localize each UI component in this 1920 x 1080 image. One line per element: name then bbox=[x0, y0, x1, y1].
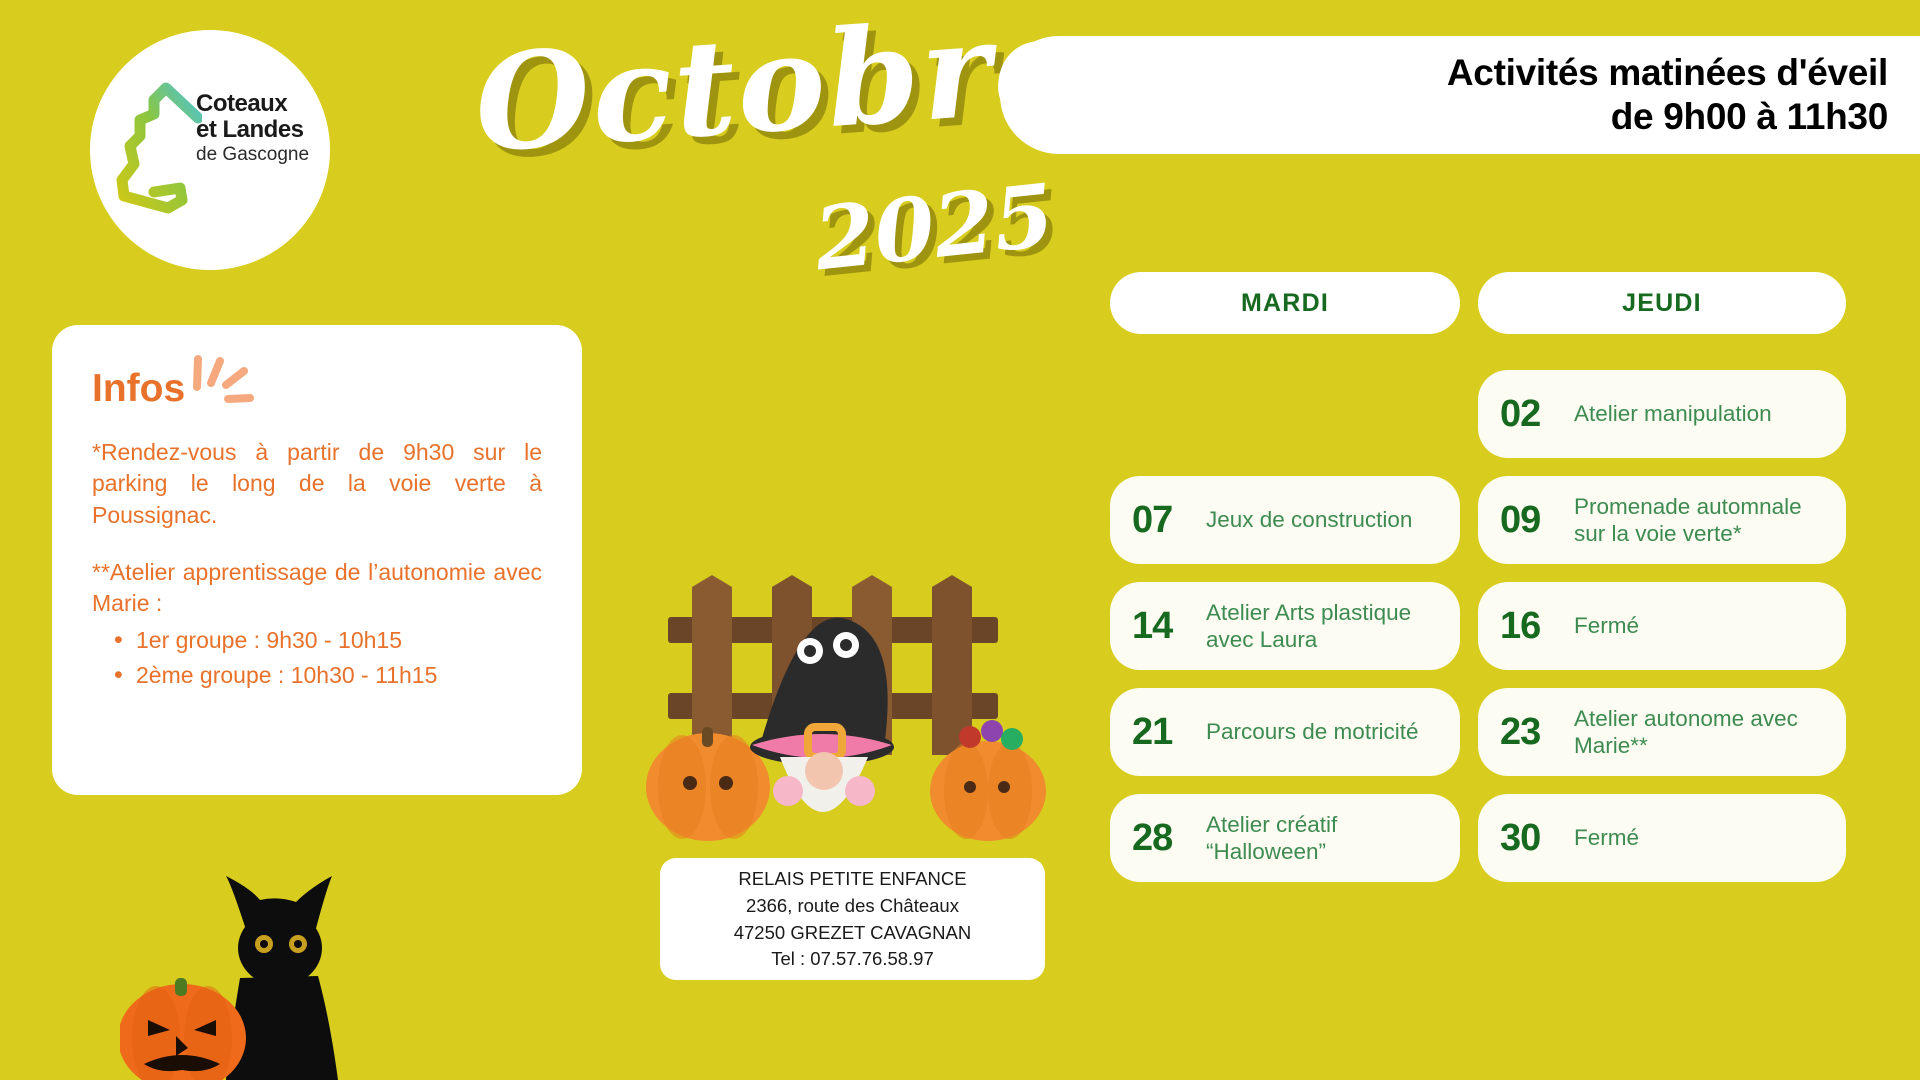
event-label: Atelier Arts plastique avec Laura bbox=[1206, 599, 1444, 654]
event-card[interactable]: 02 Atelier manipulation bbox=[1478, 370, 1846, 458]
infos-paragraph-2: **Atelier apprentissage de l’autonomie a… bbox=[92, 557, 542, 620]
month-title: Octobre bbox=[470, 0, 1084, 183]
infos-bullet-item: 2ème groupe : 10h30 - 11h15 bbox=[92, 658, 542, 693]
event-label: Fermé bbox=[1574, 824, 1639, 851]
event-card[interactable]: 21 Parcours de motricité bbox=[1110, 688, 1460, 776]
logo-line-1: Coteaux bbox=[196, 92, 309, 116]
event-label: Promenade automnale sur la voie verte* bbox=[1574, 493, 1830, 548]
infos-header: Infos bbox=[92, 367, 185, 411]
day-header-label: MARDI bbox=[1241, 289, 1329, 318]
event-card-spacer bbox=[1110, 370, 1460, 458]
event-day: 16 bbox=[1500, 605, 1558, 648]
header-banner: Activités matinées d'éveil de 9h00 à 11h… bbox=[1000, 36, 1920, 154]
event-day: 28 bbox=[1132, 817, 1190, 860]
header-line-1: Activités matinées d'éveil bbox=[1447, 51, 1888, 95]
event-label: Atelier créatif “Halloween” bbox=[1206, 811, 1444, 866]
address-line-2: 2366, route des Châteaux bbox=[746, 894, 959, 918]
address-line-3: 47250 GREZET CAVAGNAN bbox=[734, 921, 972, 945]
event-day: 21 bbox=[1132, 711, 1190, 754]
event-label: Atelier autonome avec Marie** bbox=[1574, 705, 1830, 760]
event-card[interactable]: 09 Promenade automnale sur la voie verte… bbox=[1478, 476, 1846, 564]
infos-bullet-list: 1er groupe : 9h30 - 10h15 2ème groupe : … bbox=[92, 623, 542, 692]
calendar-columns: 07 Jeux de construction 14 Atelier Arts … bbox=[1110, 370, 1920, 882]
logo-wordmark: Coteaux et Landes de Gascogne bbox=[196, 92, 309, 164]
logo-line-3: de Gascogne bbox=[196, 145, 309, 164]
event-card[interactable]: 28 Atelier créatif “Halloween” bbox=[1110, 794, 1460, 882]
halloween-gnome-illustration bbox=[640, 575, 1060, 865]
event-day: 14 bbox=[1132, 605, 1190, 648]
day-header-jeudi: JEUDI bbox=[1478, 272, 1846, 334]
infos-title: Infos bbox=[92, 367, 185, 411]
coteaux-landes-logo-icon bbox=[110, 80, 202, 220]
event-day: 07 bbox=[1132, 499, 1190, 542]
infos-bullet-item: 1er groupe : 9h30 - 10h15 bbox=[92, 623, 542, 658]
event-label: Fermé bbox=[1574, 612, 1639, 639]
event-label: Parcours de motricité bbox=[1206, 718, 1419, 745]
event-card[interactable]: 30 Fermé bbox=[1478, 794, 1846, 882]
cat-and-pumpkin-illustration bbox=[120, 870, 420, 1080]
event-card[interactable]: 07 Jeux de construction bbox=[1110, 476, 1460, 564]
day-header-mardi: MARDI bbox=[1110, 272, 1460, 334]
day-header-row: MARDI JEUDI bbox=[1110, 272, 1920, 334]
address-card: RELAIS PETITE ENFANCE 2366, route des Ch… bbox=[660, 858, 1045, 980]
calendar-column-jeudi: 02 Atelier manipulation 09 Promenade aut… bbox=[1478, 370, 1846, 882]
infos-paragraph-1: *Rendez-vous à partir de 9h30 sur le par… bbox=[92, 437, 542, 531]
address-phone: Tel : 07.57.76.58.97 bbox=[771, 947, 934, 971]
logo-line-2: et Landes bbox=[196, 118, 309, 142]
infos-card: Infos *Rendez-vous à partir de 9h30 sur … bbox=[52, 325, 582, 795]
sparkle-icon bbox=[184, 333, 270, 413]
event-card[interactable]: 14 Atelier Arts plastique avec Laura bbox=[1110, 582, 1460, 670]
event-day: 02 bbox=[1500, 393, 1558, 436]
event-day: 23 bbox=[1500, 711, 1558, 754]
logo-badge: Coteaux et Landes de Gascogne bbox=[90, 30, 330, 270]
address-line-1: RELAIS PETITE ENFANCE bbox=[738, 867, 966, 891]
event-label: Jeux de construction bbox=[1206, 506, 1412, 533]
jack-o-lantern-icon bbox=[120, 978, 246, 1080]
event-card[interactable]: 16 Fermé bbox=[1478, 582, 1846, 670]
year-title: 2025 bbox=[810, 165, 1059, 290]
event-day: 09 bbox=[1500, 499, 1558, 542]
event-day: 30 bbox=[1500, 817, 1558, 860]
day-header-label: JEUDI bbox=[1622, 289, 1702, 318]
calendar-column-mardi: 07 Jeux de construction 14 Atelier Arts … bbox=[1110, 370, 1460, 882]
calendar: MARDI JEUDI 07 Jeux de construction 14 A… bbox=[1110, 272, 1920, 882]
event-card[interactable]: 23 Atelier autonome avec Marie** bbox=[1478, 688, 1846, 776]
event-label: Atelier manipulation bbox=[1574, 400, 1772, 427]
header-line-2: de 9h00 à 11h30 bbox=[1611, 95, 1888, 139]
gnome-icon bbox=[750, 618, 894, 812]
